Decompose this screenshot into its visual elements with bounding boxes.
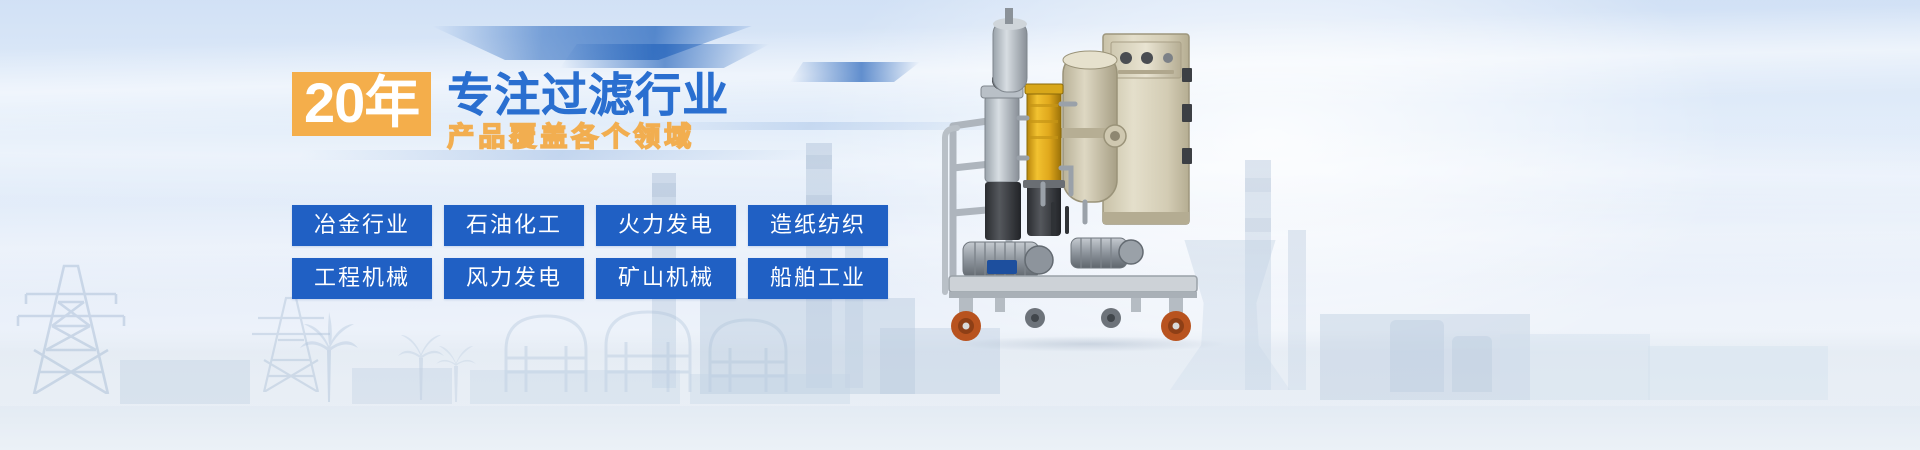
storage-tank-silhouette bbox=[1452, 336, 1492, 392]
industry-tag[interactable]: 风力发电 bbox=[444, 258, 584, 299]
industry-tag[interactable]: 火力发电 bbox=[596, 205, 736, 246]
plant-building-silhouette bbox=[1648, 346, 1828, 400]
headline-main: 专注过滤行业 产品覆盖各个领域 bbox=[447, 70, 729, 152]
headline-subtitle: 产品覆盖各个领域 bbox=[447, 122, 729, 152]
chimney-silhouette bbox=[1288, 230, 1306, 390]
industry-tag[interactable]: 船舶工业 bbox=[748, 258, 888, 299]
transmission-pylon-icon bbox=[16, 254, 126, 394]
promo-banner: 20年 专注过滤行业 产品覆盖各个领域 冶金行业 石油化工 火力发电 造纸纺织 … bbox=[0, 0, 1920, 450]
building-silhouette bbox=[690, 374, 850, 404]
building-silhouette bbox=[120, 360, 250, 404]
storage-tank-silhouette bbox=[1390, 320, 1444, 392]
industry-tag[interactable]: 矿山机械 bbox=[596, 258, 736, 299]
palm-tree-icon bbox=[300, 310, 358, 402]
tag-row: 工程机械 风力发电 矿山机械 船舶工业 bbox=[292, 258, 888, 299]
industry-tag[interactable]: 造纸纺织 bbox=[748, 205, 888, 246]
industry-tag-grid: 冶金行业 石油化工 火力发电 造纸纺织 工程机械 风力发电 矿山机械 船舶工业 bbox=[292, 205, 888, 299]
industry-tag[interactable]: 冶金行业 bbox=[292, 205, 432, 246]
ground-base bbox=[0, 406, 1920, 450]
industry-tag[interactable]: 工程机械 bbox=[292, 258, 432, 299]
building-silhouette bbox=[352, 368, 452, 404]
chimney-silhouette bbox=[1245, 160, 1271, 390]
headline-row: 20年 专注过滤行业 产品覆盖各个领域 bbox=[292, 72, 852, 152]
headline-block: 20年 专注过滤行业 产品覆盖各个领域 bbox=[292, 72, 852, 152]
plant-building-silhouette bbox=[1500, 334, 1650, 400]
tag-row: 冶金行业 石油化工 火力发电 造纸纺织 bbox=[292, 205, 888, 246]
headline-title: 专注过滤行业 bbox=[447, 70, 729, 120]
product-image-filtration-cart bbox=[935, 8, 1245, 350]
years-badge: 20年 bbox=[292, 72, 431, 136]
industry-tag[interactable]: 石油化工 bbox=[444, 205, 584, 246]
building-silhouette bbox=[470, 370, 680, 404]
